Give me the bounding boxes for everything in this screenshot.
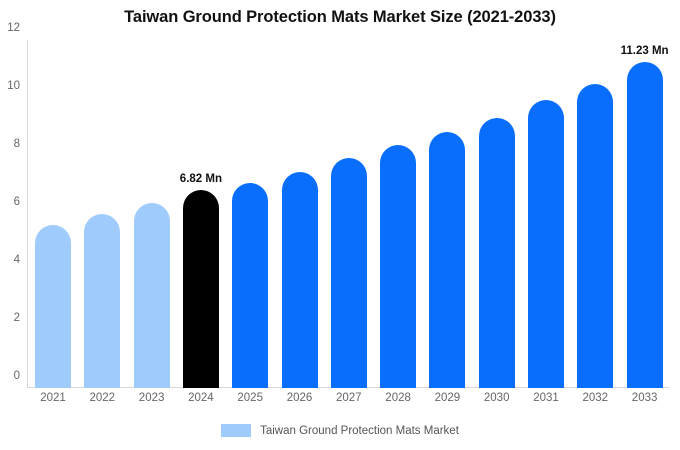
y-axis-tick-label: 10	[7, 80, 20, 92]
bar-2022[interactable]	[84, 214, 120, 388]
bar-2031[interactable]	[528, 100, 564, 388]
y-axis-tick-label: 12	[7, 22, 20, 34]
bar-2033[interactable]	[627, 62, 663, 388]
bar-value-label-2024: 6.82 Mn	[180, 173, 222, 185]
x-axis-tick-label-2033: 2033	[620, 392, 670, 404]
bar-slot	[521, 40, 571, 388]
bars-layer: 6.82 Mn11.23 Mn	[28, 40, 669, 388]
bar-2024[interactable]	[183, 190, 219, 388]
chart-legend: Taiwan Ground Protection Mats Market	[0, 424, 680, 437]
bar-2030[interactable]	[479, 118, 515, 388]
x-axis-tick-label-2030: 2030	[472, 392, 522, 404]
bar-value-label-2033: 11.23 Mn	[621, 45, 669, 57]
bar-2028[interactable]	[380, 145, 416, 388]
bar-2032[interactable]	[577, 84, 613, 388]
bar-slot: 11.23 Mn	[620, 40, 670, 388]
x-axis-tick-label-2027: 2027	[324, 392, 374, 404]
bar-slot	[28, 40, 78, 388]
plot-area: 024681012 6.82 Mn11.23 Mn	[27, 40, 669, 388]
y-axis-tick-label: 4	[14, 254, 20, 266]
bar-2025[interactable]	[232, 183, 268, 388]
bar-slot: 6.82 Mn	[176, 40, 226, 388]
x-axis-tick-label-2021: 2021	[28, 392, 78, 404]
x-axis-tick-label-2029: 2029	[422, 392, 472, 404]
x-axis-tick-label-2022: 2022	[77, 392, 127, 404]
x-axis-tick-label-2028: 2028	[373, 392, 423, 404]
y-axis-tick-label: 2	[14, 312, 20, 324]
chart-container: Taiwan Ground Protection Mats Market Siz…	[0, 0, 680, 450]
bar-slot	[225, 40, 275, 388]
bar-slot	[127, 40, 177, 388]
y-axis-tick-label: 0	[14, 370, 20, 382]
legend-label: Taiwan Ground Protection Mats Market	[260, 425, 459, 437]
y-axis-tick-label: 8	[14, 138, 20, 150]
x-axis-ticks: 2021202220232024202520262027202820292030…	[28, 392, 669, 412]
bar-slot	[472, 40, 522, 388]
bar-2026[interactable]	[282, 172, 318, 388]
x-axis-tick-label-2025: 2025	[225, 392, 275, 404]
x-axis-tick-label-2024: 2024	[176, 392, 226, 404]
x-axis-tick-label-2032: 2032	[570, 392, 620, 404]
bar-slot	[324, 40, 374, 388]
bar-slot	[373, 40, 423, 388]
bar-slot	[275, 40, 325, 388]
bar-slot	[422, 40, 472, 388]
bar-2023[interactable]	[134, 203, 170, 388]
bar-2029[interactable]	[429, 132, 465, 388]
x-axis-tick-label-2031: 2031	[521, 392, 571, 404]
y-axis-tick-label: 6	[14, 196, 20, 208]
legend-swatch-icon	[221, 424, 251, 437]
bar-2021[interactable]	[35, 225, 71, 388]
x-axis-tick-label-2023: 2023	[127, 392, 177, 404]
bar-slot	[77, 40, 127, 388]
chart-title: Taiwan Ground Protection Mats Market Siz…	[0, 8, 680, 27]
bar-2027[interactable]	[331, 158, 367, 388]
bar-slot	[570, 40, 620, 388]
x-axis-tick-label-2026: 2026	[275, 392, 325, 404]
